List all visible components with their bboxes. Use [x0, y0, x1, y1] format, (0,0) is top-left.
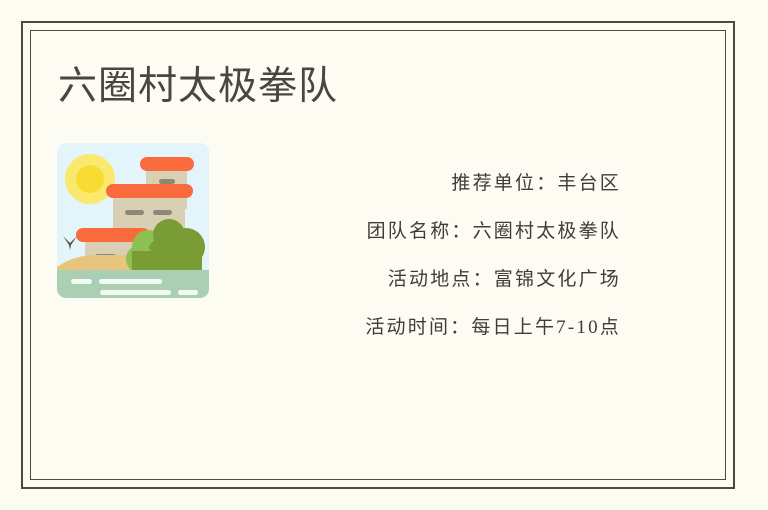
- info-card: 六圈村太极拳队: [0, 0, 768, 510]
- info-line-team-name: 团队名称：六圈村太极拳队: [210, 208, 621, 256]
- water-ripple-4: [178, 290, 198, 295]
- building-mid-roof: [106, 184, 193, 198]
- building-mid-window-left: [125, 210, 144, 215]
- info-line-activity-time: 活动时间：每日上午7-10点: [210, 304, 621, 352]
- water-ripple-1: [71, 279, 92, 284]
- village-scene-illustration: [57, 143, 209, 298]
- building-back-roof: [140, 157, 194, 171]
- team-info-list: 推荐单位：丰台区 团队名称：六圈村太极拳队 活动地点：富锦文化广场 活动时间：每…: [210, 160, 630, 352]
- info-line-activity-location: 活动地点：富锦文化广场: [210, 256, 621, 304]
- building-back-window: [159, 179, 175, 184]
- sun-core-shape: [76, 165, 104, 193]
- water-ripple-3: [100, 290, 171, 295]
- water-ripple-2: [99, 279, 162, 284]
- building-mid-window-right: [153, 210, 172, 215]
- info-line-recommending-unit: 推荐单位：丰台区: [210, 160, 621, 208]
- page-title: 六圈村太极拳队: [58, 61, 338, 113]
